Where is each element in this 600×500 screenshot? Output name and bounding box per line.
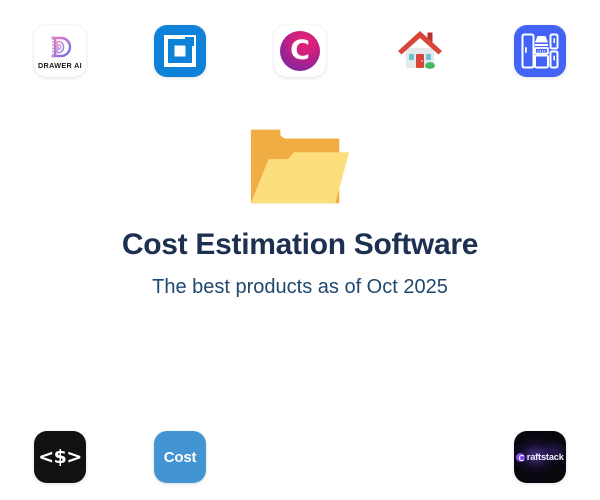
category-hero: Cost Estimation Software The best produc… [0, 100, 600, 414]
logo-slot-empty-2 [365, 422, 475, 492]
logo-slot-craftstack[interactable]: raftstack [485, 422, 595, 492]
craftstack-logo-label: raftstack [527, 452, 564, 462]
open-folder-icon-wrap [245, 122, 355, 208]
kitchen-cabinets-logo[interactable] [514, 25, 566, 77]
craftstack-logo[interactable]: raftstack [514, 431, 566, 483]
logo-slot-cost[interactable]: Cost [125, 422, 235, 492]
cost-logo-label: Cost [164, 449, 197, 466]
logo-slot-clearstory[interactable]: C [245, 16, 355, 86]
logo-slot-empty-1 [245, 422, 355, 492]
logo-slot-house[interactable] [365, 16, 475, 86]
drawer-ai-mark-icon [47, 36, 73, 60]
code-dollar-logo-label: <$> [38, 448, 82, 467]
craftstack-mark-icon [516, 453, 525, 462]
gradient-circle-icon: C [280, 31, 320, 71]
logo-slot-buildertrend[interactable] [125, 16, 235, 86]
page-subtitle: The best products as of Oct 2025 [152, 276, 448, 299]
page-title: Cost Estimation Software [122, 228, 478, 262]
buildertrend-logo[interactable] [154, 25, 206, 77]
drawer-ai-logo-label: DRAWER AI [38, 61, 82, 70]
code-dollar-logo[interactable]: <$> [34, 431, 86, 483]
house-logo[interactable] [394, 25, 446, 77]
top-logo-row: DRAWER AI C [0, 0, 600, 100]
bottom-logo-row: <$> Cost raftstack [0, 414, 600, 500]
logo-slot-code-dollar[interactable]: <$> [5, 422, 115, 492]
cost-logo[interactable]: Cost [154, 431, 206, 483]
open-folder-icon [245, 119, 355, 211]
logo-slot-drawer-ai[interactable]: DRAWER AI [5, 16, 115, 86]
clearstory-c-logo-label: C [290, 37, 310, 64]
kitchen-cabinets-icon [521, 33, 559, 69]
clearstory-c-logo[interactable]: C [274, 25, 326, 77]
drawer-ai-logo[interactable]: DRAWER AI [34, 25, 86, 77]
house-icon [395, 28, 445, 74]
product-category-card: DRAWER AI C [0, 0, 600, 500]
nested-square-mark-icon [163, 34, 197, 68]
logo-slot-kitchen[interactable] [485, 16, 595, 86]
